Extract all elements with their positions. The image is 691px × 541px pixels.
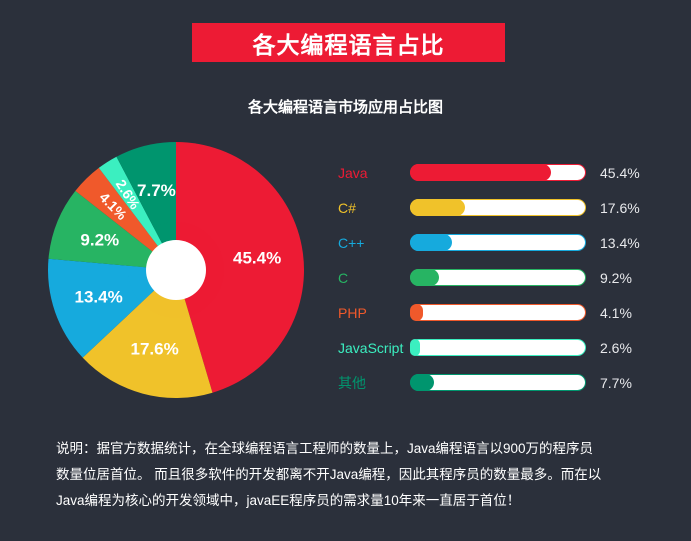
legend-row[interactable]: PHP4.1% xyxy=(338,295,668,330)
footer-note: 说明：据官方数据统计，在全球编程语言工程师的数量上，Java编程语言以900万的… xyxy=(56,436,656,514)
legend-bar-track xyxy=(410,269,586,286)
legend-row[interactable]: C++13.4% xyxy=(338,225,668,260)
footer-note-line: Java编程为核心的开发领域中，javaEE程序员的需求量10年来一直居于首位！ xyxy=(56,488,656,514)
pie-center-hole xyxy=(146,240,206,300)
legend-label: 其他 xyxy=(338,373,410,393)
pie-slice-value-label: 13.4% xyxy=(74,287,122,306)
legend-bar-track xyxy=(410,339,586,356)
legend-percent-value: 45.4% xyxy=(600,165,640,181)
legend-label: Java xyxy=(338,165,410,181)
pie-slice-value-label: 9.2% xyxy=(80,230,119,249)
legend-row[interactable]: 其他7.7% xyxy=(338,365,668,400)
legend-bar-fill xyxy=(410,234,452,251)
legend-bar-fill xyxy=(410,269,439,286)
legend-label: JavaScript xyxy=(338,340,410,356)
pie-slice-value-label: 45.4% xyxy=(233,249,281,268)
legend-percent-value: 4.1% xyxy=(600,305,632,321)
legend-bar-track xyxy=(410,199,586,216)
pie-slice-value-label: 17.6% xyxy=(130,340,178,359)
legend-bar-track xyxy=(410,164,586,181)
chart-subtitle: 各大编程语言市场应用占比图 xyxy=(0,96,691,117)
legend-bar-fill xyxy=(410,164,551,181)
legend-percent-value: 17.6% xyxy=(600,200,640,216)
legend-label: C xyxy=(338,270,410,286)
legend-row[interactable]: C#17.6% xyxy=(338,190,668,225)
legend-percent-value: 7.7% xyxy=(600,375,632,391)
legend-bar-fill xyxy=(410,199,465,216)
pie-chart: 45.4%17.6%13.4%9.2%4.1%2.6%7.7% xyxy=(48,142,304,398)
legend-percent-value: 2.6% xyxy=(600,340,632,356)
legend-bar-track xyxy=(410,234,586,251)
legend-row[interactable]: JavaScript2.6% xyxy=(338,330,668,365)
legend-bar-fill xyxy=(410,339,420,356)
legend-percent-value: 9.2% xyxy=(600,270,632,286)
pie-slice-value-label: 7.7% xyxy=(137,181,176,200)
footer-note-line: 数量位居首位。 而且很多软件的开发都离不开Java编程，因此其程序员的数量最多。… xyxy=(56,462,656,488)
legend-label: C# xyxy=(338,200,410,216)
footer-note-line: 说明：据官方数据统计，在全球编程语言工程师的数量上，Java编程语言以900万的… xyxy=(56,436,656,462)
legend-bar-fill xyxy=(410,304,423,321)
page-title-banner: 各大编程语言占比 xyxy=(192,23,505,62)
legend-label: PHP xyxy=(338,305,410,321)
pie-chart-svg: 45.4%17.6%13.4%9.2%4.1%2.6%7.7% xyxy=(48,142,304,398)
legend-row[interactable]: Java45.4% xyxy=(338,155,668,190)
legend-bar-track xyxy=(410,374,586,391)
legend-label: C++ xyxy=(338,235,410,251)
legend-bar-fill xyxy=(410,374,434,391)
legend-percent-value: 13.4% xyxy=(600,235,640,251)
page-title: 各大编程语言占比 xyxy=(253,26,445,60)
legend-bar-track xyxy=(410,304,586,321)
legend-list: Java45.4%C#17.6%C++13.4%C9.2%PHP4.1%Java… xyxy=(338,155,668,400)
legend-row[interactable]: C9.2% xyxy=(338,260,668,295)
